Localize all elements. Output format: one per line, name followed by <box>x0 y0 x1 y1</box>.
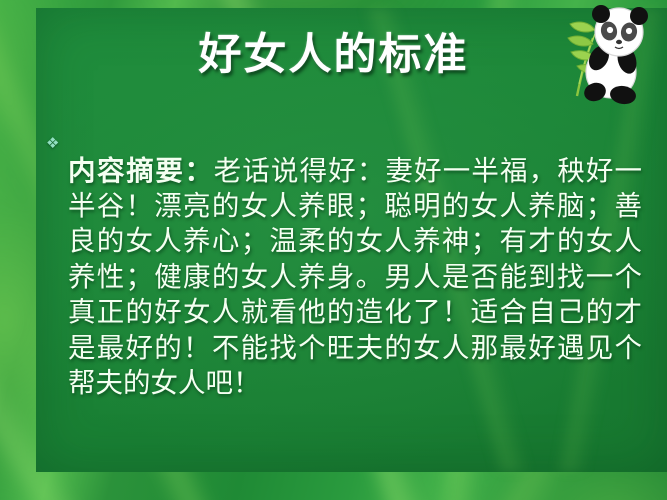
presentation-slide: 好女人的标准 <box>0 0 667 500</box>
summary-paragraph: 内容摘要：老话说得好：妻好一半福，秧好一半谷！漂亮的女人养眼；聪明的女人养脑；善… <box>68 154 642 402</box>
diamond-bullet-icon: ❖ <box>46 136 68 151</box>
content-summary-block: ❖ 内容摘要：老话说得好：妻好一半福，秧好一半谷！漂亮的女人养眼；聪明的女人养脑… <box>46 126 642 429</box>
panda-illustration <box>557 0 661 112</box>
summary-label: 内容摘要： <box>68 155 214 187</box>
panda-body <box>582 5 648 106</box>
summary-body-text: 老话说得好：妻好一半福，秧好一半谷！漂亮的女人养眼；聪明的女人养脑；善良的女人养… <box>68 155 642 399</box>
